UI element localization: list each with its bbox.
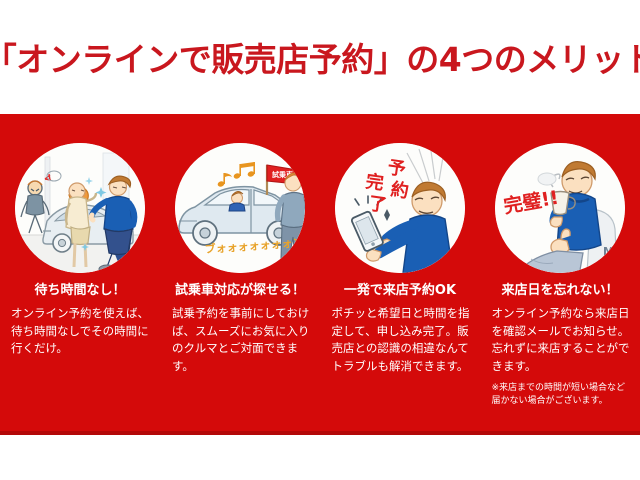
benefit-body: 試乗予約を事前にしておけば、スムーズにお気に入りのクルマとご対面できます。: [168, 305, 312, 375]
benefit-column: 待ち時間なし！ オンライン予約を使えば、待ち時間なしでその時間に行くだけ。: [0, 114, 160, 435]
svg-text:予: 予: [386, 157, 407, 180]
svg-text:了: 了: [367, 193, 388, 216]
benefit-body: ポチッと希望日と時間を指定して、申し込み完了。販売店との認識の相違なんてトラブル…: [329, 305, 472, 375]
benefit-columns: 待ち時間なし！ オンライン予約を使えば、待ち時間なしでその時間に行くだけ。: [0, 114, 640, 435]
svg-text:約: 約: [389, 178, 410, 202]
benefit-heading: 一発で来店予約OK: [344, 284, 456, 298]
red-content-panel: 待ち時間なし！ オンライン予約を使えば、待ち時間なしでその時間に行くだけ。: [0, 114, 640, 435]
benefit-heading: 試乗車対応が探せる！: [175, 284, 305, 298]
benefit-body: オンライン予約を使えば、待ち時間なしでその時間に行くだけ。: [9, 305, 151, 357]
promo-banner: 「オンラインで販売店予約」の4つのメリット: [0, 0, 640, 480]
svg-text:完: 完: [364, 170, 385, 194]
benefit-column: 予 約 完 了 一発で来店予約OK ポチッと希望日と時間を指定して、申し込み完了…: [320, 114, 480, 435]
showroom-waiting-illustration: [15, 143, 145, 273]
title-band: 「オンラインで販売店予約」の4つのメリット: [0, 0, 640, 114]
page-title: 「オンラインで販売店予約」の4つのメリット: [0, 43, 640, 76]
bottom-white-band: [0, 435, 640, 480]
smartphone-booking-illustration: 予 約 完 了: [335, 143, 465, 273]
svg-text:M: M: [603, 245, 614, 258]
relaxed-man-coffee-illustration: M 完璧!!: [495, 143, 625, 273]
benefit-heading: 来店日を忘れない！: [501, 284, 618, 298]
benefit-column: M 完璧!! 来店日を忘れない！ オンライン予約なら来店日を確認メールでお知らせ…: [480, 114, 640, 435]
benefit-column: 試乗車: [160, 114, 320, 435]
benefit-footnote: ※来店までの時間が短い場合など届かない場合がございます。: [489, 382, 632, 408]
test-drive-car-illustration: 試乗車: [175, 143, 305, 273]
benefit-body: オンライン予約なら来店日を確認メールでお知らせ。忘れずに来店することができます。: [489, 305, 632, 375]
benefit-heading: 待ち時間なし！: [34, 284, 125, 298]
